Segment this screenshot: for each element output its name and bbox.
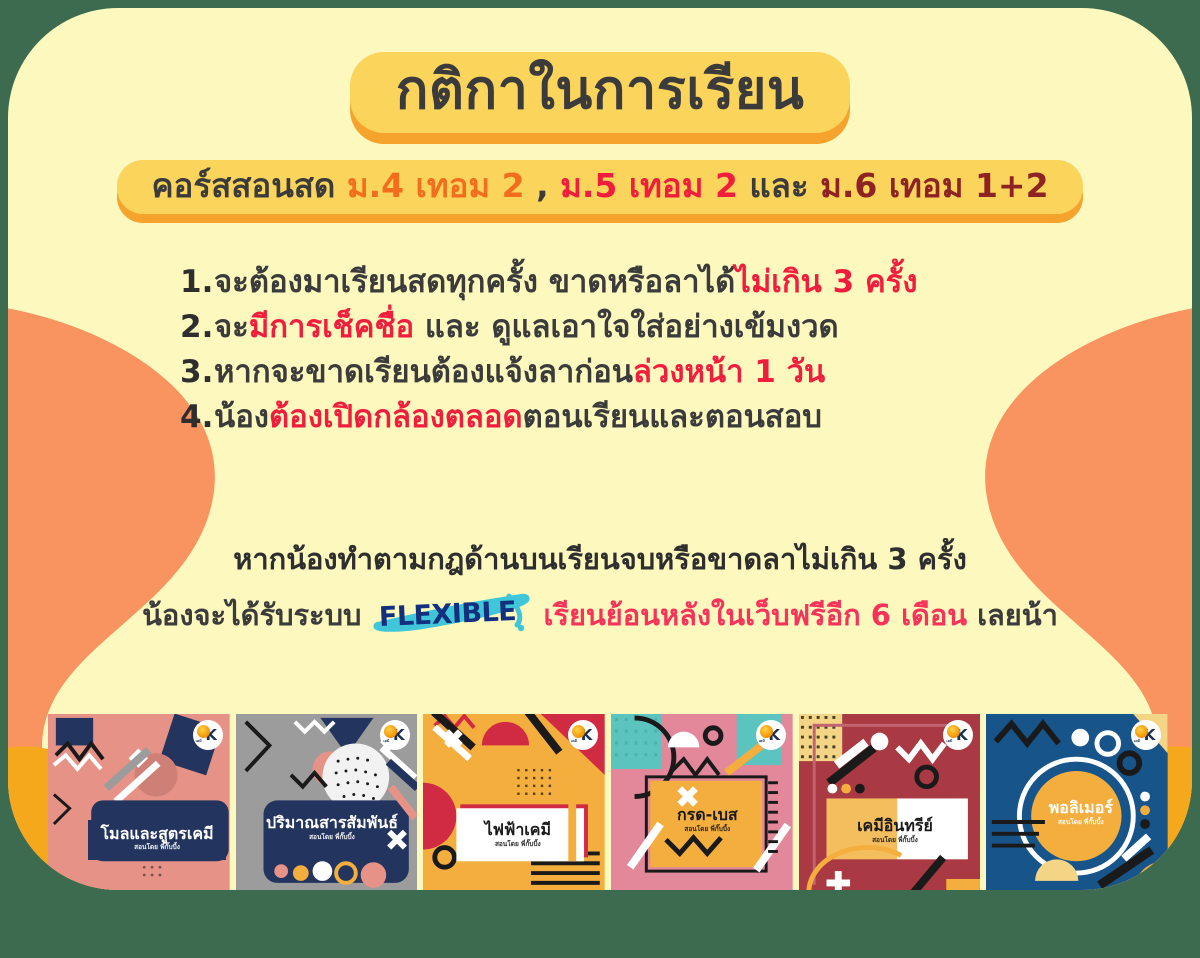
flexible-logo-text: FLEXIBLE — [379, 598, 517, 631]
rule-text-highlight-3: ล่วงหน้า 1 วัน — [633, 354, 825, 390]
rule-number-3: 3. — [180, 357, 214, 388]
flexible-logo: FLEXIBLE — [371, 592, 533, 638]
brand-sun-icon-3 — [572, 725, 585, 738]
rule-text-c-2: และ ดูแลเอาใจใส่อย่างเข้มงวด — [414, 309, 839, 345]
rules-list: 1.จะต้องมาเรียนสดทุกครั้ง ขาดหรือลาได้ไม… — [8, 260, 1192, 440]
rule-text-a-2: จะ — [214, 309, 249, 345]
title-container: กติกาในการเรียน — [8, 52, 1192, 133]
closing-block: หากน้องทำตามกฎด้านบนเรียนจบหรือขาดลาไม่เ… — [8, 536, 1192, 647]
brand-mini-text-4: เคมี — [759, 738, 765, 744]
course-card-3-teacher: สอนโดย พี่กั๊บบิ้ง — [460, 841, 575, 848]
rule-number-1: 1. — [180, 267, 214, 298]
course-card-4-label: กรด-เบส สอนโดย พี่กั๊บบิ้ง — [647, 801, 767, 841]
brand-mini-text-1: เคมี — [196, 738, 202, 744]
rule-item-4: 4.น้องต้องเปิดกล้องตลอดตอนเรียนและตอนสอบ — [180, 395, 1192, 440]
poster-stage: กติกาในการเรียน คอร์สสอนสด ม.4 เทอม 2 , … — [0, 0, 1200, 958]
rule-text-c-4: ตอนเรียนและตอนสอบ — [523, 399, 822, 435]
course-card-6-teacher: สอนโดย พี่กั๊บบิ้ง — [1023, 819, 1138, 826]
course-card-6[interactable]: พอลิเมอร์ สอนโดย พี่กั๊บบิ้ง เคมี K — [986, 714, 1168, 890]
course-card-1-label: โมลและสูตรเคมี สอนโดย พี่กั๊บบิ้ง — [88, 820, 226, 860]
course-card-3-title: ไฟฟ้าเคมี — [460, 822, 575, 839]
rule-number-4: 4. — [180, 402, 214, 433]
course-card-2-teacher: สอนโดย พี่กั๊บบิ้ง — [265, 834, 398, 841]
brand-logo-badge-3: เคมี K — [568, 720, 598, 750]
course-card-1-title: โมลและสูตรเคมี — [96, 826, 218, 843]
subtitle-container: คอร์สสอนสด ม.4 เทอม 2 , ม.5 เทอม 2 และ ม… — [8, 160, 1192, 214]
course-card-1[interactable]: โมลและสูตรเคมี สอนโดย พี่กั๊บบิ้ง เคมี K — [48, 714, 230, 890]
brand-logo-badge-6: เคมี K — [1131, 720, 1161, 750]
course-card-5-title: เคมีอินทรีย์ — [839, 818, 950, 835]
brand-mini-text-2: เคมี — [383, 738, 389, 744]
course-card-2-title: ปริมาณสารสัมพันธ์ — [265, 815, 398, 832]
brand-sun-icon-1 — [197, 725, 210, 738]
course-card-5[interactable]: เคมีอินทรีย์ สอนโดย พี่กั๊บบิ้ง เคมี K — [799, 714, 981, 890]
brand-sun-icon-6 — [1135, 725, 1148, 738]
closing-text-after: เลยน้า — [977, 601, 1058, 630]
rule-item-1: 1.จะต้องมาเรียนสดทุกครั้ง ขาดหรือลาได้ไม… — [180, 260, 1192, 305]
rule-text-highlight-1: ไม่เกิน 3 ครั้ง — [735, 264, 917, 300]
brand-sun-icon-4 — [760, 725, 773, 738]
rule-item-2: 2.จะมีการเช็คชื่อ และ ดูแลเอาใจใส่อย่างเ… — [180, 305, 1192, 350]
course-card-3[interactable]: ไฟฟ้าเคมี สอนโดย พี่กั๊บบิ้ง เคมี K — [423, 714, 605, 890]
title-badge: กติกาในการเรียน — [350, 52, 851, 133]
subtitle-sep-comma: , — [525, 166, 561, 205]
subtitle-sep-and: และ — [738, 166, 820, 205]
subtitle-part-m4: ม.4 เทอม 2 — [347, 166, 525, 205]
course-thumbnail-strip: โมลและสูตรเคมี สอนโดย พี่กั๊บบิ้ง เคมี K — [48, 714, 1168, 890]
course-card-1-teacher: สอนโดย พี่กั๊บบิ้ง — [96, 844, 218, 851]
subtitle-part-m5: ม.5 เทอม 2 — [560, 166, 738, 205]
brand-mini-text-3: เคมี — [571, 738, 577, 744]
course-card-3-label: ไฟฟ้าเคมี สอนโดย พี่กั๊บบิ้ง — [452, 816, 583, 856]
course-card-5-label: เคมีอินทรีย์ สอนโดย พี่กั๊บบิ้ง — [831, 812, 958, 852]
rule-text-a-3: หากจะขาดเรียนต้องแจ้งลาก่อน — [214, 354, 633, 390]
course-card-2[interactable]: ปริมาณสารสัมพันธ์ สอนโดย พี่กั๊บบิ้ง เคม… — [236, 714, 418, 890]
rule-item-3: 3.หากจะขาดเรียนต้องแจ้งลาก่อนล่วงหน้า 1 … — [180, 350, 1192, 395]
course-card-4[interactable]: กรด-เบส สอนโดย พี่กั๊บบิ้ง เคมี K — [611, 714, 793, 890]
closing-line-1: หากน้องทำตามกฎด้านบนเรียนจบหรือขาดลาไม่เ… — [8, 536, 1192, 583]
subtitle-part-m6: ม.6 เทอม 1+2 — [820, 166, 1048, 205]
subtitle-badge: คอร์สสอนสด ม.4 เทอม 2 , ม.5 เทอม 2 และ ม… — [117, 160, 1082, 214]
course-card-4-title: กรด-เบส — [655, 807, 759, 824]
course-card-6-label: พอลิเมอร์ สอนโดย พี่กั๊บบิ้ง — [1015, 794, 1146, 834]
course-card-2-label: ปริมาณสารสัมพันธ์ สอนโดย พี่กั๊บบิ้ง — [257, 809, 406, 849]
brand-logo-badge-4: เคมี K — [756, 720, 786, 750]
closing-text-red: เรียนย้อนหลังในเว็บฟรีอีก 6 เดือน — [543, 601, 967, 630]
course-card-5-teacher: สอนโดย พี่กั๊บบิ้ง — [839, 837, 950, 844]
subtitle-part-course: คอร์สสอนสด — [151, 166, 346, 205]
brand-mini-text-5: เคมี — [946, 738, 952, 744]
course-card-6-title: พอลิเมอร์ — [1023, 800, 1138, 817]
brand-logo-badge-1: เคมี K — [193, 720, 223, 750]
rule-text-highlight-4: ต้องเปิดกล้องตลอด — [269, 399, 523, 435]
rule-number-2: 2. — [180, 312, 214, 343]
rule-text-highlight-2: มีการเช็คชื่อ — [249, 309, 414, 345]
closing-line-2: น้องจะได้รับระบบ FLEXIBLE เรียนย้อนหลังใ… — [8, 583, 1192, 647]
course-card-4-teacher: สอนโดย พี่กั๊บบิ้ง — [655, 826, 759, 833]
rule-text-a-1: จะต้องมาเรียนสดทุกครั้ง ขาดหรือลาได้ — [214, 264, 735, 300]
closing-text-before: น้องจะได้รับระบบ — [142, 601, 361, 630]
poster-card: กติกาในการเรียน คอร์สสอนสด ม.4 เทอม 2 , … — [8, 8, 1192, 890]
rule-text-a-4: น้อง — [214, 399, 269, 435]
brand-mini-text-6: เคมี — [1134, 738, 1140, 744]
page-title: กติกาในการเรียน — [396, 62, 805, 119]
